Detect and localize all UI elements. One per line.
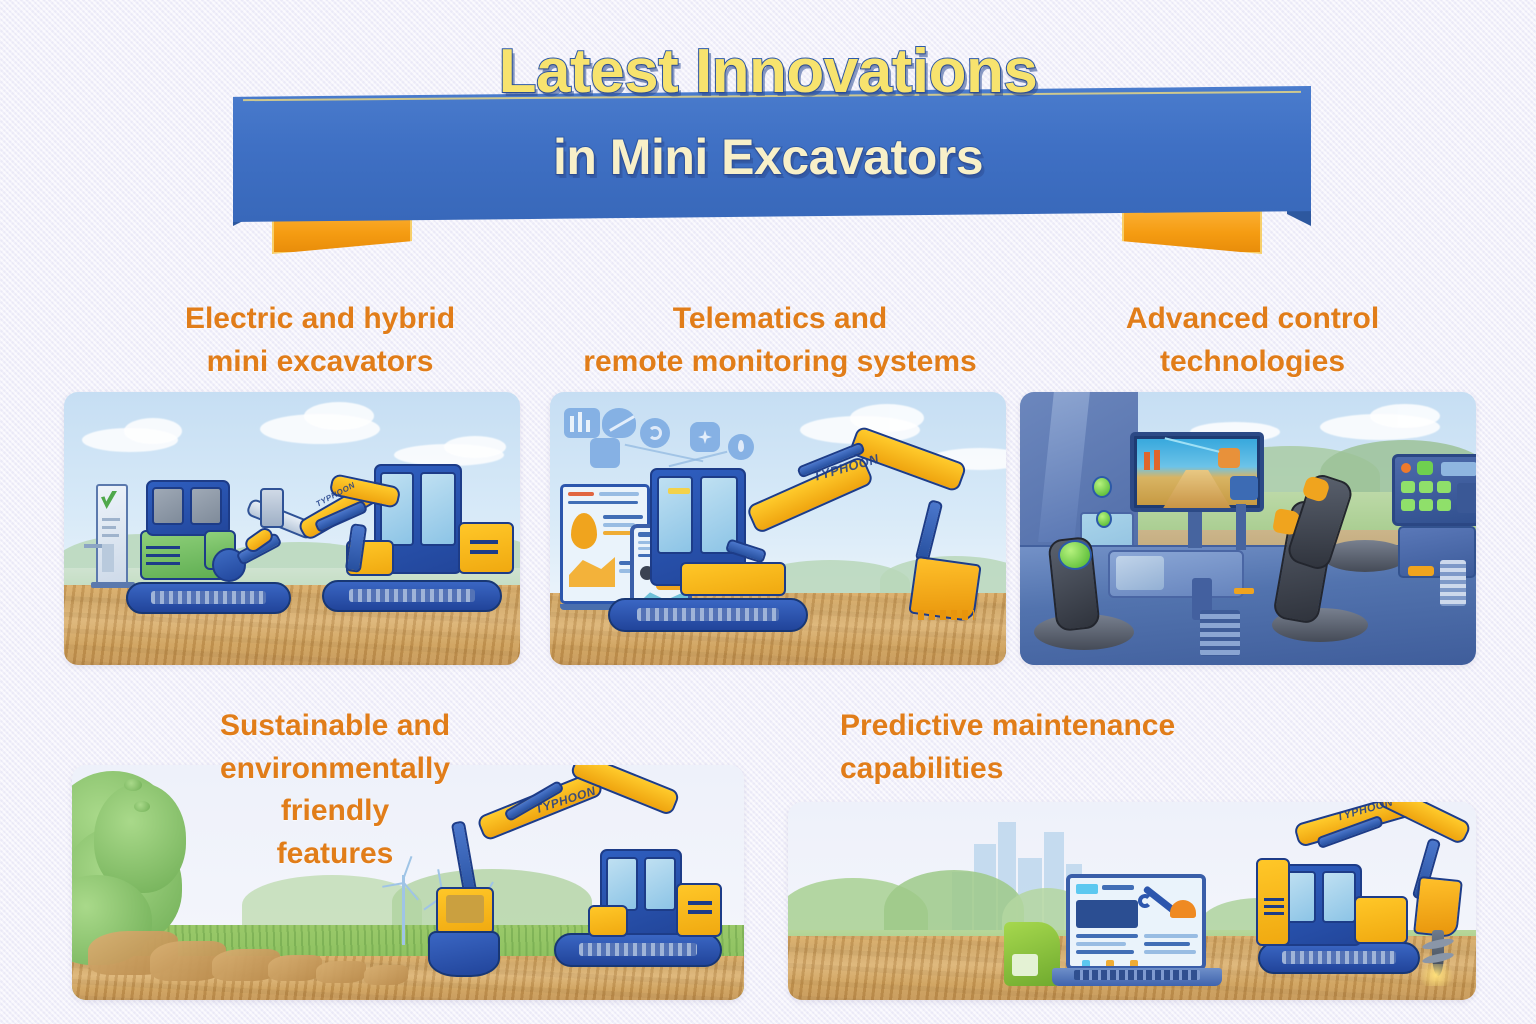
heading-line: remote monitoring systems [535, 341, 1025, 384]
ribbon-tail-right [1122, 208, 1262, 254]
control-panel-right[interactable] [1392, 454, 1476, 526]
title-banner: Latest Innovations in Mini Excavators [0, 0, 1536, 265]
section-heading-predictive-maintenance: Predictive maintenance capabilities [840, 705, 1310, 790]
section-image-predictive-maintenance: TYPHOON [788, 802, 1476, 1000]
heading-line: capabilities [840, 748, 1310, 791]
section-image-advanced-control [1020, 392, 1476, 665]
heading-line: Electric and hybrid [120, 298, 520, 341]
cabin-indicator-green-2 [1096, 510, 1112, 528]
joystick-button-green[interactable] [1058, 540, 1092, 570]
section-image-electric-hybrid: TYPHOON [64, 392, 520, 665]
page-title-line-1: Latest Innovations [0, 36, 1536, 107]
heading-line: Telematics and [535, 298, 1025, 341]
safety-helmet-icon [1170, 900, 1196, 918]
leaf-sprig [124, 779, 142, 791]
heading-line: technologies [1035, 341, 1470, 384]
heading-line: friendly [175, 790, 495, 833]
heading-line: features [175, 833, 495, 876]
heading-line: environmentally [175, 748, 495, 791]
heading-line: Predictive maintenance [840, 705, 1310, 748]
leaf-sprig [134, 801, 150, 812]
heading-line: mini excavators [120, 341, 520, 384]
section-heading-telematics: Telematics and remote monitoring systems [535, 298, 1025, 383]
cabin-display-monitor [1130, 432, 1264, 512]
page-title-line-2: in Mini Excavators [0, 128, 1536, 186]
section-heading-electric-hybrid: Electric and hybrid mini excavators [120, 298, 520, 383]
cabin-indicator-green-1 [1092, 476, 1112, 498]
heading-line: Advanced control [1035, 298, 1470, 341]
building-icon [590, 438, 620, 468]
section-image-telematics: TYPHOON [550, 392, 1006, 665]
section-heading-advanced-control: Advanced control technologies [1035, 298, 1470, 383]
heading-line: Sustainable and [175, 705, 495, 748]
section-heading-sustainable: Sustainable and environmentally friendly… [175, 705, 495, 875]
